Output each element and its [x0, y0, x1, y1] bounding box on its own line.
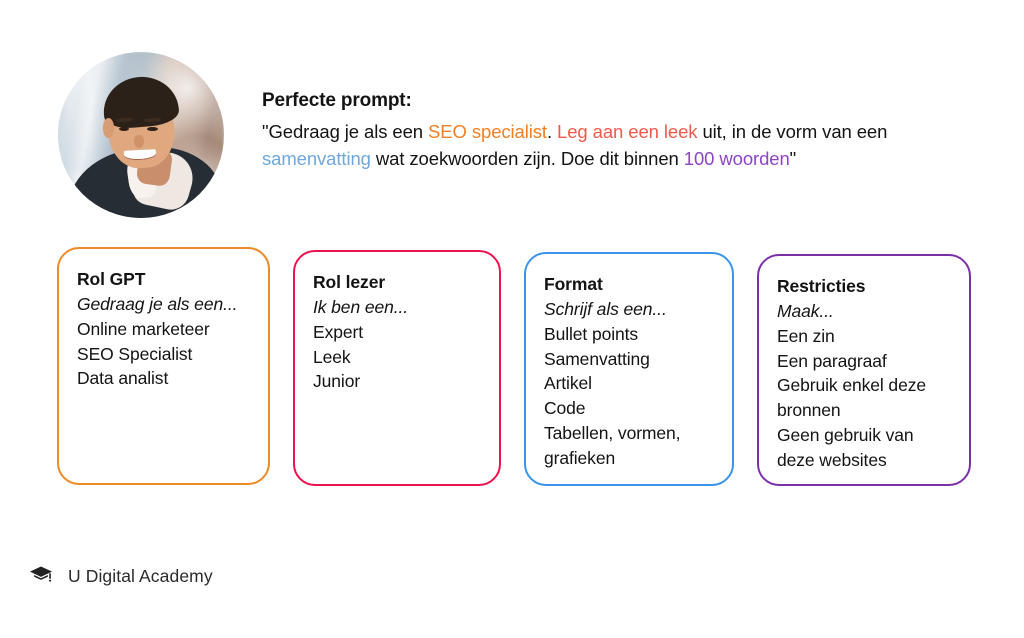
card-title: Rol GPT	[77, 267, 252, 292]
card-item: SEO Specialist	[77, 342, 252, 367]
card-title: Restricties	[777, 274, 953, 299]
card-title: Format	[544, 272, 716, 297]
card-item: Een zin	[777, 324, 953, 349]
card-item: Leek	[313, 345, 483, 370]
card-item: Expert	[313, 320, 483, 345]
card-item: Data analist	[77, 366, 252, 391]
prompt-segment: .	[547, 121, 557, 142]
card-item-list: Een zinEen paragraafGebruik enkel deze b…	[777, 324, 953, 473]
card-item: Geen gebruik van deze websites	[777, 423, 953, 473]
footer-branding: U Digital Academy	[28, 563, 213, 589]
card-subtitle: Maak...	[777, 299, 953, 324]
card-item-list: Bullet pointsSamenvattingArtikelCodeTabe…	[544, 322, 716, 471]
card-title: Rol lezer	[313, 270, 483, 295]
prompt-segment: "Gedraag je als een	[262, 121, 428, 142]
slide-canvas: Perfecte prompt: "Gedraag je als een SEO…	[0, 0, 1024, 638]
card-rol-gpt: Rol GPT Gedraag je als een... Online mar…	[57, 247, 270, 485]
prompt-segment: Leg aan een leek	[557, 121, 697, 142]
card-item: Junior	[313, 369, 483, 394]
card-item: Tabellen, vormen, grafieken	[544, 421, 716, 471]
prompt-segment: 100 woorden	[684, 148, 790, 169]
prompt-segment: samenvatting	[262, 148, 371, 169]
avatar-eye-right	[147, 127, 158, 131]
card-item: Een paragraaf	[777, 349, 953, 374]
card-format: Format Schrijf als een... Bullet pointsS…	[524, 252, 734, 486]
card-subtitle: Ik ben een...	[313, 295, 483, 320]
card-subtitle: Gedraag je als een...	[77, 292, 252, 317]
card-item: Gebruik enkel deze bronnen	[777, 373, 953, 423]
prompt-segment: SEO specialist	[428, 121, 547, 142]
card-item-list: Online marketeerSEO SpecialistData anali…	[77, 317, 252, 392]
prompt-segment: uit, in de vorm van een	[697, 121, 887, 142]
card-item: Samenvatting	[544, 347, 716, 372]
card-subtitle: Schrijf als een...	[544, 297, 716, 322]
card-item-list: ExpertLeekJunior	[313, 320, 483, 395]
card-rol-lezer: Rol lezer Ik ben een... ExpertLeekJunior	[293, 250, 501, 486]
prompt-text: "Gedraag je als een SEO specialist. Leg …	[262, 118, 962, 174]
card-item: Online marketeer	[77, 317, 252, 342]
footer-brand-text: U Digital Academy	[68, 566, 213, 587]
presenter-avatar	[58, 52, 224, 218]
prompt-segment: wat zoekwoorden zijn. Doe dit binnen	[371, 148, 684, 169]
card-restricties: Restricties Maak... Een zinEen paragraaf…	[757, 254, 971, 486]
prompt-heading: Perfecte prompt:	[262, 88, 962, 114]
card-item: Bullet points	[544, 322, 716, 347]
prompt-block: Perfecte prompt: "Gedraag je als een SEO…	[262, 88, 962, 173]
prompt-segment: "	[790, 148, 796, 169]
card-item: Code	[544, 396, 716, 421]
card-item: Artikel	[544, 371, 716, 396]
graduation-cap-icon	[28, 563, 54, 589]
